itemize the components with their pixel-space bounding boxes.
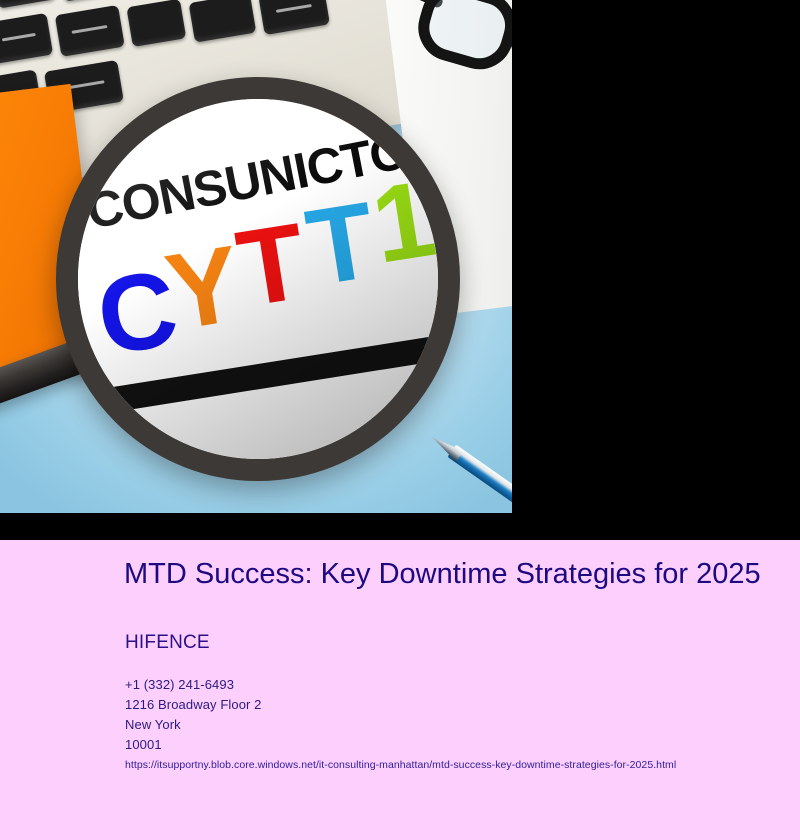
key [0,13,53,65]
contact-city: New York [125,715,785,735]
brand-name: HIFENCE [125,632,210,654]
key [58,0,120,2]
contact-block: +1 (332) 241-6493 1216 Broadway Floor 2 … [125,675,785,755]
contact-zip: 10001 [125,735,785,755]
page-title: MTD Success: Key Downtime Strategies for… [124,558,776,590]
key [126,0,186,47]
info-panel: MTD Success: Key Downtime Strategies for… [0,540,800,840]
magnifier-lens-content: CONSUNICTON C Y T T 1 [78,99,438,459]
key [55,5,125,57]
hero-photo: CONSUNICTON C Y T T 1 [0,0,512,513]
media-band: CONSUNICTON C Y T T 1 [0,0,800,540]
page-root: CONSUNICTON C Y T T 1 MTD Success: Key D… [0,0,800,840]
contact-street: 1216 Broadway Floor 2 [125,695,785,715]
colored-letter: Y [159,229,247,347]
contact-phone: +1 (332) 241-6493 [125,675,785,695]
key [189,0,257,43]
glasses-lens-left [410,0,512,77]
band-fill-right [512,0,800,540]
magnifying-glass: CONSUNICTON C Y T T 1 [56,77,460,481]
colored-letter: T [231,207,313,324]
source-url[interactable]: https://itsupportny.blob.core.windows.ne… [125,758,676,772]
key [0,0,56,9]
key [258,0,330,35]
